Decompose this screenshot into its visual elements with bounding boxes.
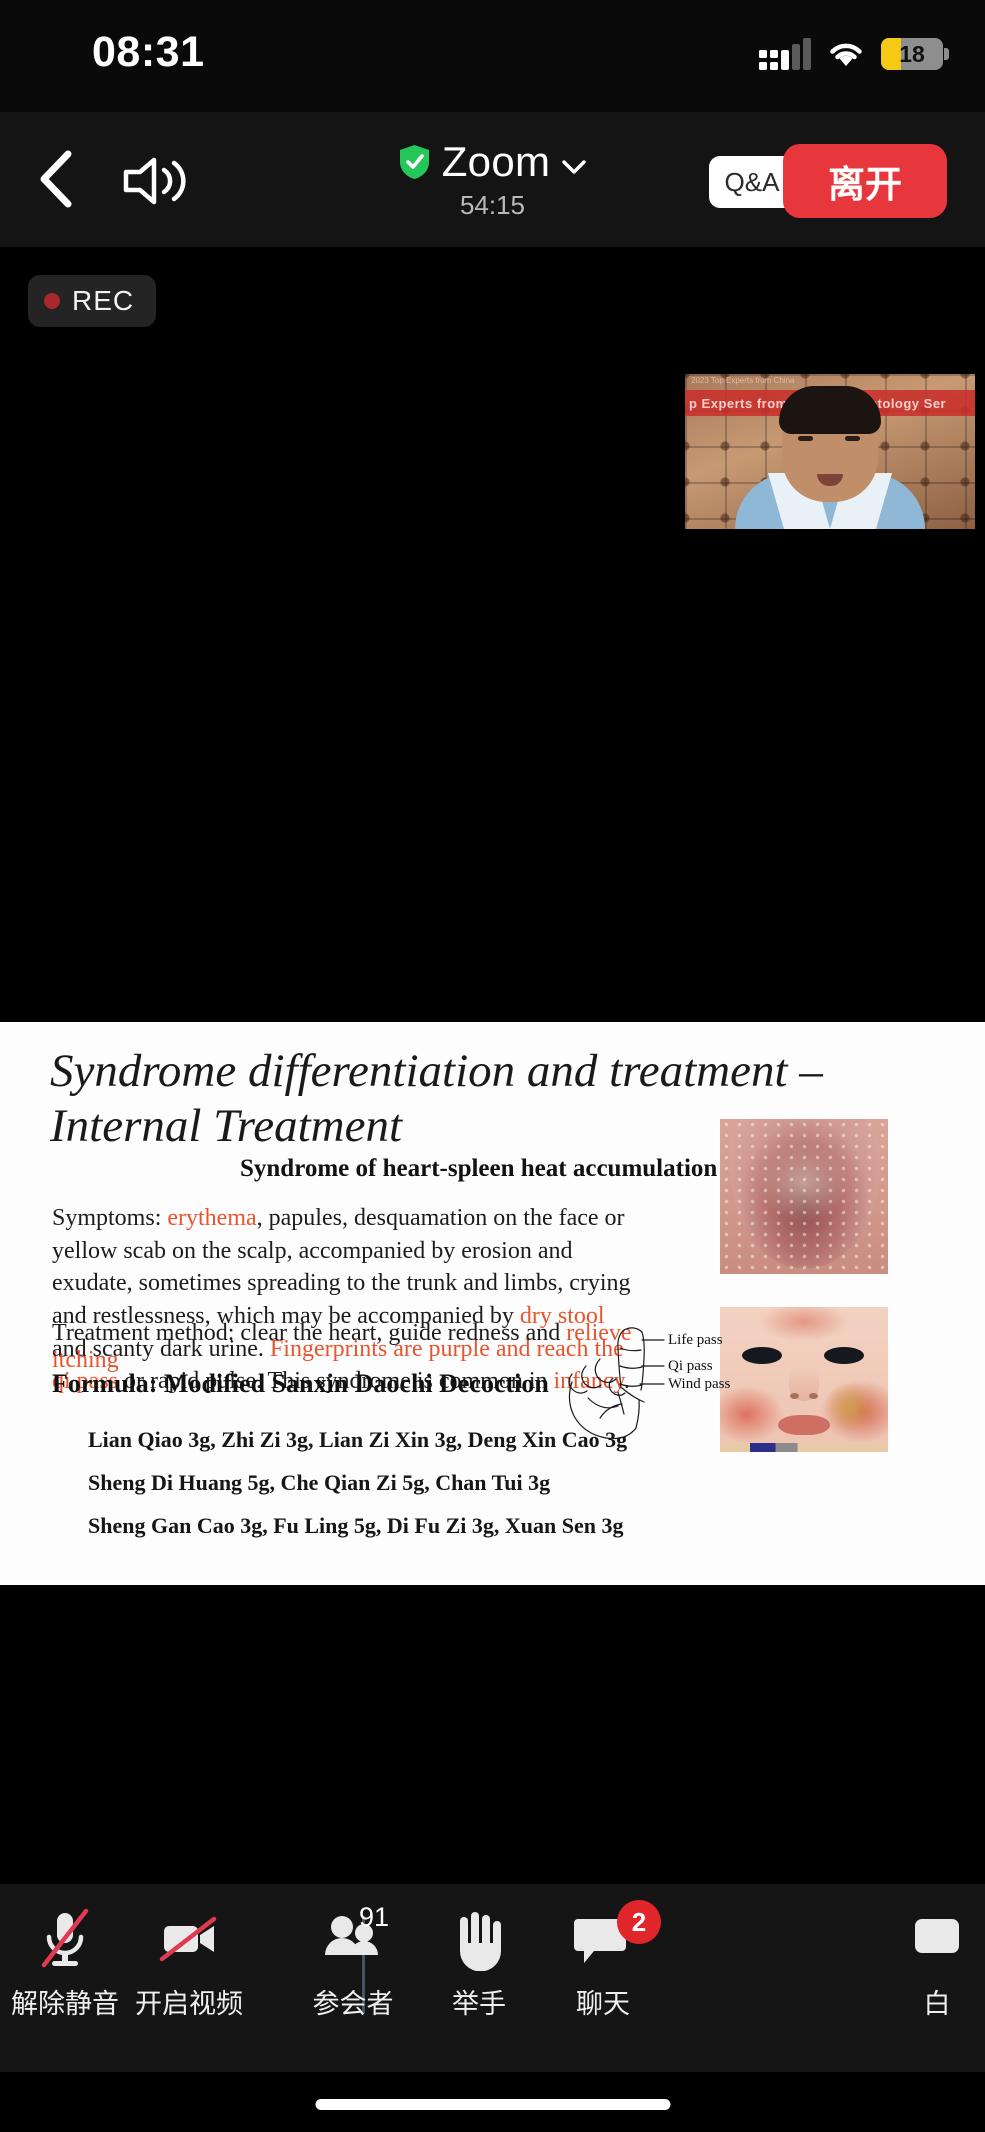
slide-formula-lines: Lian Qiao 3g, Zhi Zi 3g, Lian Zi Xin 3g,… [88,1419,627,1548]
slide-title: Syndrome differentiation and treatment –… [50,1044,830,1153]
video-off-icon [114,1906,264,1972]
label-qi-pass: Qi pass [668,1358,713,1375]
signal-dots [759,50,767,70]
face-nostril-right [809,1393,818,1399]
meeting-toolbar: 解除静音 开启视频 91 [0,1884,985,2072]
self-view-thumbnail[interactable]: 2023 Top Experts from China p Experts fr… [685,374,975,529]
formula-line: Sheng Di Huang 5g, Che Qian Zi 5g, Chan … [88,1462,627,1505]
formula-line: Sheng Gan Cao 3g, Fu Ling 5g, Di Fu Zi 3… [88,1505,627,1548]
signal-dots [770,50,778,70]
chat-unread-badge: 2 [617,1900,661,1944]
battery-level: 18 [881,41,943,68]
toolbar-label-chat: 聊天 [576,1982,630,2021]
leave-meeting-button[interactable]: 离开 [783,144,947,218]
label-wind-pass: Wind pass [668,1376,730,1393]
cellular-signal-icon [759,38,811,70]
toolbar-label-unmute: 解除静音 [11,1982,119,2021]
slide-subheading: Syndrome of heart-spleen heat accumulati… [240,1155,717,1183]
meeting-stage: REC 2023 Top Experts from China p Expert… [0,247,985,1884]
app-name: Zoom [442,138,551,186]
thumbnail-eye-right [845,436,860,441]
face-lips [778,1415,830,1435]
record-dot-icon [44,293,60,309]
toolbar-item-whiteboard[interactable]: 白 [862,1906,985,2021]
status-bar-time: 08:31 [92,28,204,77]
toolbar-label-participants: 参会者 [313,1982,394,2021]
highlighted-term: erythema [167,1205,256,1231]
recording-label: REC [72,285,134,317]
thumbnail-top-text: 2023 Top Experts from China [691,376,794,385]
toolbar-label-start-video: 开启视频 [135,1982,243,2021]
whiteboard-icon [862,1906,985,1972]
face-nostril-left [790,1393,799,1399]
slide-formula-heading: Formula: Modified Sanxin Daochi Decoctio… [52,1369,549,1399]
recording-badge[interactable]: REC [28,275,156,327]
face-yellow-crust [822,1384,878,1430]
shared-slide[interactable]: Syndrome differentiation and treatment –… [0,1022,985,1585]
battery-icon: 18 [881,38,943,70]
toolbar-item-start-video[interactable]: 开启视频 [114,1906,264,2021]
status-bar-indicators: 18 [759,38,943,70]
toolbar-label-raise-hand: 举手 [452,1982,506,2021]
tongue-photo [720,1119,888,1274]
thumbnail-person-hair [779,386,881,434]
label-life-pass: Life pass [668,1332,723,1349]
meeting-elapsed-time: 54:15 [460,190,525,221]
formula-line: Lian Qiao 3g, Zhi Zi 3g, Lian Zi Xin 3g,… [88,1419,627,1462]
toolbar-label-whiteboard: 白 [924,1982,951,2021]
chevron-down-icon[interactable] [562,160,586,174]
status-bar: 08:31 18 [0,0,985,112]
home-indicator[interactable] [315,2099,670,2110]
text-run: Symptoms: [52,1205,167,1231]
toolbar-item-chat[interactable]: 2 聊天 [528,1906,678,2021]
face-eye-right [824,1347,864,1364]
verified-shield-icon [399,144,430,180]
meeting-header: Zoom 54:15 Q&A 离开 [0,112,985,247]
tongue-papillae [720,1119,888,1274]
wifi-icon [827,40,865,68]
participants-count-badge: 91 [359,1902,389,1933]
text-run: Treatment method: clear the heart, guide… [52,1320,566,1346]
zoom-meeting-screen: 08:31 18 [0,0,985,2132]
thumbnail-eye-left [798,436,813,441]
chat-bubble-icon: 2 [528,1906,678,1972]
finger-pass-diagram: Life pass Qi pass Wind pass [560,1322,750,1447]
